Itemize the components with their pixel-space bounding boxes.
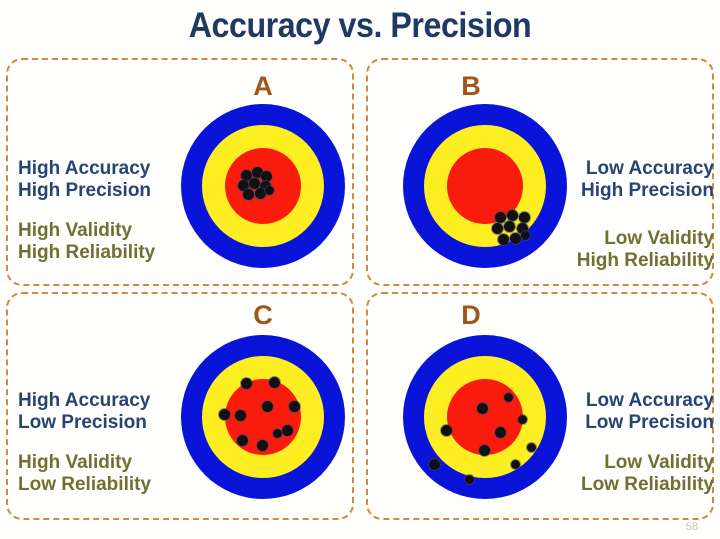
- slide-canvas: Accuracy vs. Precision A High Accuracy H…: [0, 0, 720, 539]
- quadrant-d-accuracy-label: Low Accuracy Low Precision: [544, 390, 714, 434]
- shot-dot: [257, 440, 268, 451]
- quadrant-a-validity-line2: High Reliability: [18, 242, 188, 264]
- quadrant-b-accuracy-label: Low Accuracy High Precision: [544, 158, 714, 202]
- quadrant-d-accuracy-line1: Low Accuracy: [544, 390, 714, 412]
- quadrant-b-validity-label: Low Validity High Reliability: [534, 228, 714, 272]
- quadrant-c-validity-line2: Low Reliability: [18, 474, 188, 496]
- shot-dot: [507, 210, 518, 221]
- shot-dot: [235, 410, 246, 421]
- quadrant-d-validity-line2: Low Reliability: [534, 474, 714, 496]
- target-high-accuracy-high-precision: [181, 104, 345, 268]
- shot-dot: [504, 221, 515, 232]
- quadrant-a-validity-label: High Validity High Reliability: [18, 220, 188, 264]
- shot-dot: [429, 459, 440, 470]
- shot-dot: [243, 189, 254, 200]
- quadrant-c-accuracy-line2: Low Precision: [18, 412, 188, 434]
- shot-dot: [465, 475, 474, 484]
- quadrant-b-validity-line1: Low Validity: [534, 228, 714, 250]
- page-number: 58: [686, 521, 698, 533]
- shot-dot: [518, 415, 527, 424]
- shot-dot: [265, 186, 274, 195]
- shot-dot: [237, 435, 248, 446]
- shot-dot: [273, 429, 282, 438]
- quadrant-a-letter: A: [233, 73, 293, 100]
- shot-dot: [492, 223, 503, 234]
- quadrant-c-accuracy-label: High Accuracy Low Precision: [18, 390, 188, 434]
- shot-dot: [282, 425, 293, 436]
- quadrant-d-validity-line1: Low Validity: [534, 452, 714, 474]
- quadrant-a-accuracy-line2: High Precision: [18, 180, 188, 202]
- quadrant-c-accuracy-line1: High Accuracy: [18, 390, 188, 412]
- shot-dot: [495, 212, 506, 223]
- quadrant-a-accuracy-line1: High Accuracy: [18, 158, 188, 180]
- shot-dot: [510, 233, 521, 244]
- shot-dot: [511, 460, 520, 469]
- shot-dot: [479, 445, 490, 456]
- shot-dot: [504, 393, 513, 402]
- shot-dot: [498, 234, 509, 245]
- shot-dot: [477, 403, 488, 414]
- shot-dot: [519, 212, 530, 223]
- shot-dot: [441, 425, 452, 436]
- quadrant-d-validity-label: Low Validity Low Reliability: [534, 452, 714, 496]
- shot-dot: [269, 377, 280, 388]
- quadrant-b-letter: B: [441, 73, 501, 100]
- shot-dot: [262, 401, 273, 412]
- target-d-bullseye: [447, 379, 523, 455]
- shot-dot: [289, 401, 300, 412]
- quadrant-b-accuracy-line1: Low Accuracy: [544, 158, 714, 180]
- shot-dot: [241, 378, 252, 389]
- quadrant-b-accuracy-line2: High Precision: [544, 180, 714, 202]
- quadrant-a-accuracy-label: High Accuracy High Precision: [18, 158, 188, 202]
- quadrant-b-validity-line2: High Reliability: [534, 250, 714, 272]
- quadrant-c-validity-line1: High Validity: [18, 452, 188, 474]
- quadrant-d-letter: D: [441, 302, 501, 329]
- quadrant-a-validity-line1: High Validity: [18, 220, 188, 242]
- shot-dot: [495, 427, 506, 438]
- shot-dot: [527, 443, 536, 452]
- quadrant-c-validity-label: High Validity Low Reliability: [18, 452, 188, 496]
- shot-dot: [219, 409, 230, 420]
- quadrant-c-letter: C: [233, 302, 293, 329]
- target-high-accuracy-low-precision: [181, 335, 345, 499]
- shot-dot: [521, 231, 530, 240]
- page-title: Accuracy vs. Precision: [29, 6, 691, 46]
- quadrant-d-accuracy-line2: Low Precision: [544, 412, 714, 434]
